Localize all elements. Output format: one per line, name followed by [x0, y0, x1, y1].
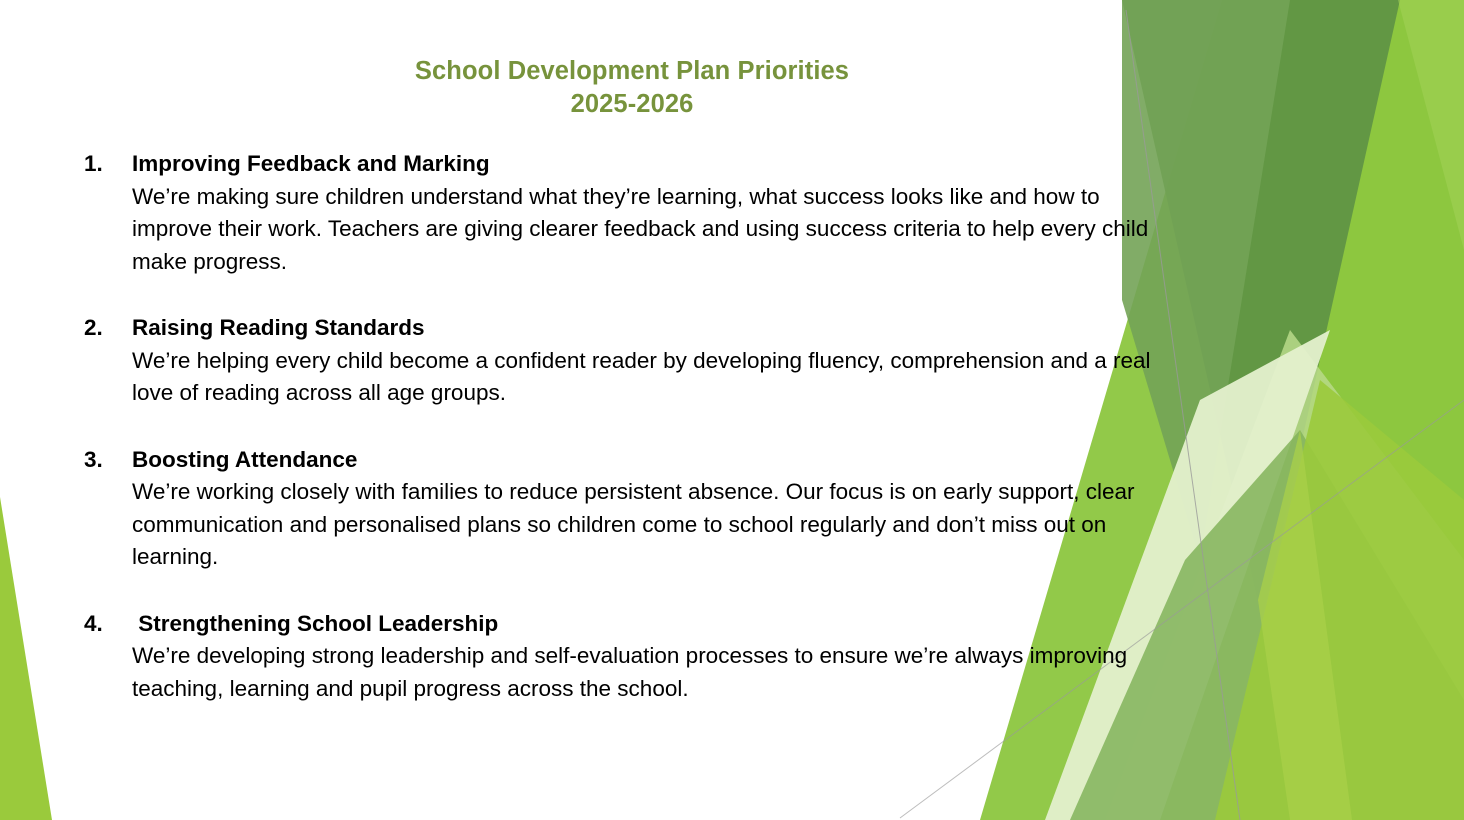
priorities-list: 1. Improving Feedback and Marking We’re …	[84, 148, 1159, 705]
list-item-description: We’re making sure children understand wh…	[132, 181, 1159, 279]
list-item: 3. Boosting Attendance We’re working clo…	[84, 444, 1159, 574]
list-item-number: 4.	[84, 608, 132, 641]
decorative-wedge-bottom-left	[0, 497, 52, 820]
slide-title: School Development Plan Priorities 2025-…	[0, 55, 1264, 121]
decorative-shape-bright-overlay	[1215, 380, 1464, 820]
list-item-body: Improving Feedback and Marking We’re mak…	[132, 148, 1159, 278]
list-item-heading: Raising Reading Standards	[132, 312, 1159, 345]
list-item: 2. Raising Reading Standards We’re helpi…	[84, 312, 1159, 410]
list-item-number: 1.	[84, 148, 132, 181]
list-item-number: 3.	[84, 444, 132, 477]
list-item-heading: Strengthening School Leadership	[132, 608, 1159, 641]
list-item-description: We’re developing strong leadership and s…	[132, 640, 1159, 705]
decorative-shape-topright-tint	[1398, 0, 1464, 250]
presentation-slide: School Development Plan Priorities 2025-…	[0, 0, 1464, 820]
list-item-heading: Improving Feedback and Marking	[132, 148, 1159, 181]
slide-title-line-1: School Development Plan Priorities	[0, 55, 1264, 88]
decorative-shape-light-sliver	[1258, 430, 1352, 820]
list-item: 4. Strengthening School Leadership We’re…	[84, 608, 1159, 706]
list-item: 1. Improving Feedback and Marking We’re …	[84, 148, 1159, 278]
list-item-description: We’re helping every child become a confi…	[132, 345, 1159, 410]
list-item-heading: Boosting Attendance	[132, 444, 1159, 477]
list-item-body: Strengthening School Leadership We’re de…	[132, 608, 1159, 706]
list-item-number: 2.	[84, 312, 132, 345]
list-item-description: We’re working closely with families to r…	[132, 476, 1159, 574]
list-item-body: Raising Reading Standards We’re helping …	[132, 312, 1159, 410]
slide-title-line-2: 2025-2026	[0, 88, 1264, 121]
list-item-body: Boosting Attendance We’re working closel…	[132, 444, 1159, 574]
